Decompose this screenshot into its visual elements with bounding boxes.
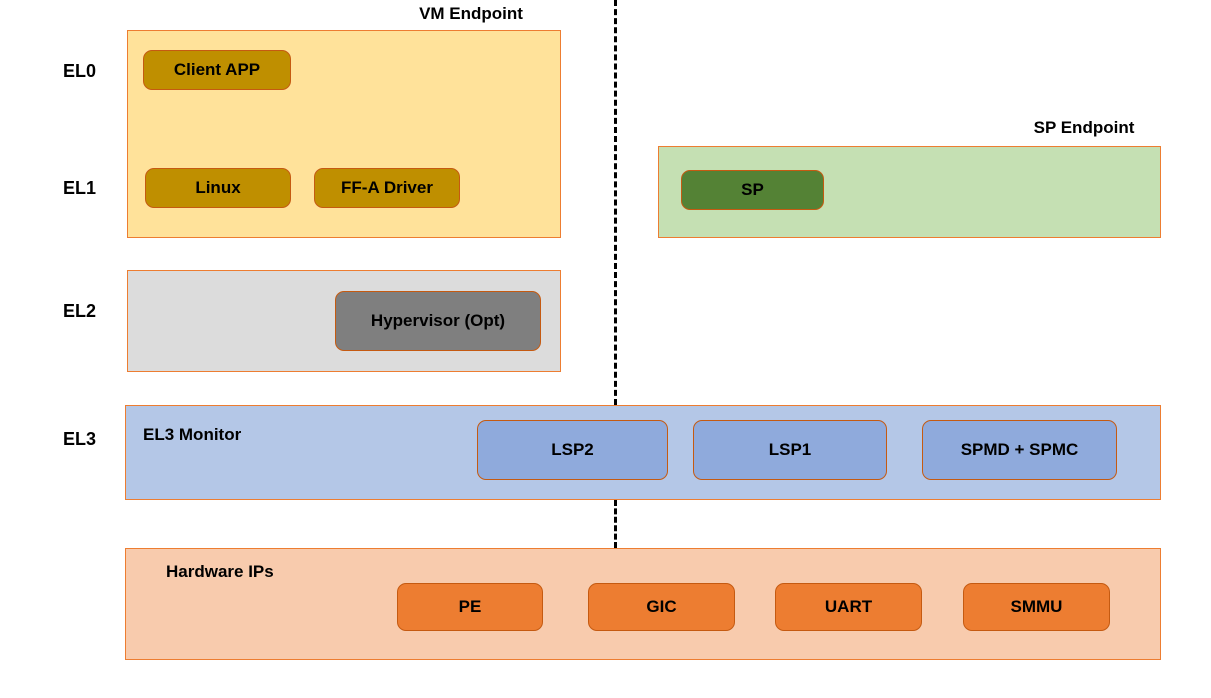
block-linux[interactable]: Linux <box>145 168 291 208</box>
block-uart[interactable]: UART <box>775 583 922 631</box>
sp-endpoint-title: SP Endpoint <box>984 119 1184 136</box>
block-spmd-spmc[interactable]: SPMD + SPMC <box>922 420 1117 480</box>
block-sp[interactable]: SP <box>681 170 824 210</box>
el-label-el2: EL2 <box>0 302 96 320</box>
block-client-app[interactable]: Client APP <box>143 50 291 90</box>
architecture-diagram: EL0 EL1 EL2 EL3 VM Endpoint SP Endpoint … <box>0 0 1211 698</box>
secure-world-divider <box>614 0 617 405</box>
block-gic[interactable]: GIC <box>588 583 735 631</box>
el-label-el1: EL1 <box>0 179 96 197</box>
block-smmu[interactable]: SMMU <box>963 583 1110 631</box>
secure-world-divider-lower <box>614 500 617 548</box>
vm-endpoint-title: VM Endpoint <box>371 5 571 22</box>
block-pe[interactable]: PE <box>397 583 543 631</box>
el3-monitor-heading: EL3 Monitor <box>143 426 241 443</box>
el-label-el0: EL0 <box>0 62 96 80</box>
el-label-el3: EL3 <box>0 430 96 448</box>
block-lsp1[interactable]: LSP1 <box>693 420 887 480</box>
block-ffa-driver[interactable]: FF-A Driver <box>314 168 460 208</box>
block-lsp2[interactable]: LSP2 <box>477 420 668 480</box>
hardware-ips-heading: Hardware IPs <box>166 563 274 580</box>
block-hypervisor[interactable]: Hypervisor (Opt) <box>335 291 541 351</box>
